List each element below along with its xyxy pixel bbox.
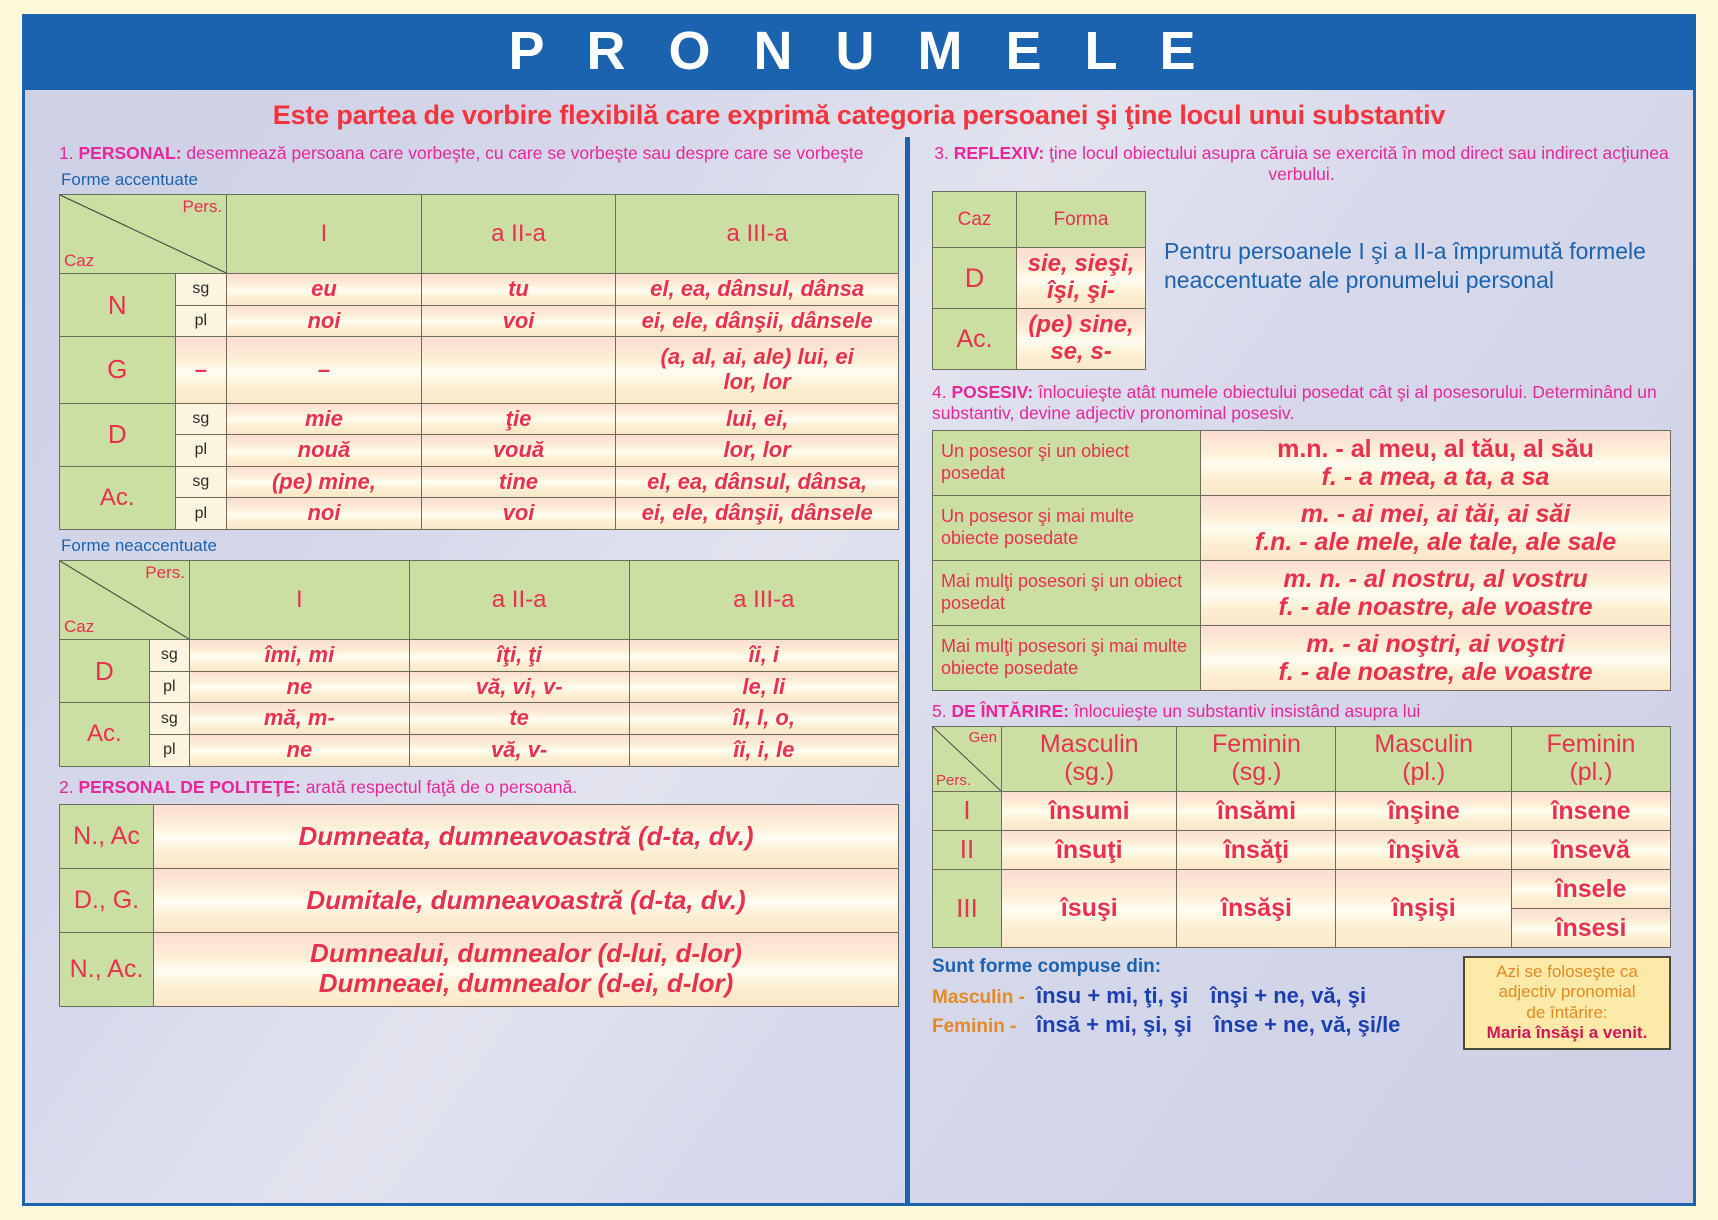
cell-d-pl-p2: vouă bbox=[421, 435, 616, 467]
refl-header-caz: Caz bbox=[933, 192, 1017, 248]
compuse-row-feminin: Feminin - însă + mi, şi, şi înse + ne, v… bbox=[932, 1012, 1453, 1038]
cell-g-p1: – bbox=[227, 337, 422, 403]
poster: P R O N U M E L E Este partea de vorbire… bbox=[22, 14, 1696, 1206]
cell-nd-sg-p3: îi, i bbox=[629, 640, 898, 672]
cell-n-pl-p1: noi bbox=[227, 305, 422, 337]
table-row: Ac. sg (pe) mine, tine el, ea, dânsul, d… bbox=[60, 466, 899, 498]
cell-nac-pl-p1: ne bbox=[189, 734, 409, 766]
posesiv-line-0-0: m.n. - al meu, al tău, al său bbox=[1207, 435, 1664, 463]
number-sg: sg bbox=[149, 703, 189, 735]
corner-top-label: Pers. bbox=[182, 197, 222, 217]
table-row: I însumi însămi înşine însene bbox=[933, 791, 1671, 830]
table-header-row: Pers. Caz I a II-a a III-a bbox=[60, 561, 899, 640]
note-line-2: adjectiv pronomial bbox=[1469, 982, 1665, 1002]
number-sg: sg bbox=[149, 640, 189, 672]
int-cell-2-3: însevă bbox=[1511, 830, 1670, 869]
table-row: II însuţi însăţi înşivă însevă bbox=[933, 830, 1671, 869]
table-forme-accentuate: Pers. Caz I a II-a a III-a N sg eu tu el… bbox=[59, 194, 899, 530]
col-header-p2: a II-a bbox=[409, 561, 629, 640]
case-label-g: G bbox=[60, 337, 176, 403]
section1-desc: desemnează persoana care vorbeşte, cu ca… bbox=[186, 143, 863, 163]
int-cell-1-2: înşine bbox=[1336, 791, 1511, 830]
number-sg: sg bbox=[175, 274, 227, 306]
number-pl: pl bbox=[175, 305, 227, 337]
col-header-p2: a II-a bbox=[421, 195, 616, 274]
cell-n-pl-p2: voi bbox=[421, 305, 616, 337]
reflexiv-note: Pentru persoanele I şi a II-a împrumută … bbox=[1164, 191, 1671, 294]
section3-desc: ţine locul obiectului asupra căruia se e… bbox=[1049, 143, 1669, 184]
corner-bottom-label: Caz bbox=[64, 251, 94, 271]
corner-bottom-label: Pers. bbox=[936, 772, 971, 789]
cell-nd-pl-p3: le, li bbox=[629, 671, 898, 703]
case-label-ac: Ac. bbox=[60, 703, 150, 766]
cell-nd-pl-p2: vă, vi, v- bbox=[409, 671, 629, 703]
number-sg: sg bbox=[175, 403, 227, 435]
section2-number: 2. bbox=[59, 777, 74, 797]
cell-d-pl-p3: lor, lor bbox=[616, 435, 899, 467]
int-cell-3-3a: însele bbox=[1511, 869, 1670, 908]
table-header-row: Gen Pers. Masculin (sg.) Feminin (sg.) M… bbox=[933, 726, 1671, 791]
section1-heading: 1. PERSONAL: desemnează persoana care vo… bbox=[59, 143, 899, 164]
table-row: Un posesor şi un obiect posedat m.n. - a… bbox=[933, 430, 1671, 495]
refl-form-0: sie, sieşi, îşi, şi- bbox=[1017, 248, 1146, 309]
table-forme-neaccentuate: Pers. Caz I a II-a a III-a D sg îmi, mi … bbox=[59, 560, 899, 767]
note-box: Azi se foloseşte ca adjectiv pronomial d… bbox=[1463, 956, 1671, 1051]
politete-value-0: Dumneata, dumneavoastră (d-ta, dv.) bbox=[154, 804, 899, 868]
table-de-intarire: Gen Pers. Masculin (sg.) Feminin (sg.) M… bbox=[932, 726, 1671, 948]
table-header-row: Pers. Caz I a II-a a III-a bbox=[60, 195, 899, 274]
int-cell-3-2: înşişi bbox=[1336, 869, 1511, 947]
cell-g-p3: (a, al, ai, ale) lui, ei lor, lor bbox=[616, 337, 899, 403]
section5-heading: 5. DE ÎNTĂRIRE: înlocuieşte un substanti… bbox=[932, 701, 1671, 722]
posesiv-label-0: Un posesor şi un obiect posedat bbox=[933, 430, 1201, 495]
case-label-d: D bbox=[60, 640, 150, 703]
compuse-title: Sunt forme compuse din: bbox=[932, 956, 1453, 978]
cell-nd-pl-p1: ne bbox=[189, 671, 409, 703]
corner-bottom-label: Caz bbox=[64, 617, 94, 637]
int-col-header-0-l1: Masculin bbox=[1004, 731, 1174, 759]
posesiv-value-1: m. - ai mei, ai tăi, ai săi f.n. - ale m… bbox=[1201, 495, 1671, 560]
cell-nac-pl-p3: îi, i, le bbox=[629, 734, 898, 766]
col-header-p3: a III-a bbox=[629, 561, 898, 640]
cell-d-pl-p1: nouă bbox=[227, 435, 422, 467]
politete-label-1: D., G. bbox=[60, 868, 154, 932]
int-col-header-2-l1: Masculin bbox=[1338, 731, 1508, 759]
corner-cell: Pers. Caz bbox=[60, 561, 190, 640]
section4-desc: înlocuieşte atât numele obiectului posed… bbox=[932, 382, 1657, 423]
section1-number: 1. bbox=[59, 143, 74, 163]
section5-name: DE ÎNTĂRIRE: bbox=[951, 701, 1069, 721]
table-header-row: Caz Forma bbox=[933, 192, 1146, 248]
cell-n-sg-p3: el, ea, dânsul, dânsa bbox=[616, 274, 899, 306]
cell-d-sg-p3: lui, ei, bbox=[616, 403, 899, 435]
posesiv-value-0: m.n. - al meu, al tău, al său f. - a mea… bbox=[1201, 430, 1671, 495]
int-col-header-3-l2: (pl.) bbox=[1514, 759, 1668, 787]
int-col-header-1-l2: (sg.) bbox=[1179, 759, 1333, 787]
posesiv-line-3-1: f. - ale noastre, ale voastre bbox=[1207, 658, 1664, 686]
table-row: D sg mie ţie lui, ei, bbox=[60, 403, 899, 435]
forme-accentuate-label: Forme accentuate bbox=[61, 170, 899, 190]
table-row: pl nouă vouă lor, lor bbox=[60, 435, 899, 467]
section2-desc: arată respectul faţă de o persoană. bbox=[306, 777, 577, 797]
table-row: Ac. (pe) sine, se, s- bbox=[933, 309, 1146, 370]
int-cell-2-1: însăţi bbox=[1177, 830, 1336, 869]
note-line-3: de întărire: bbox=[1469, 1003, 1665, 1023]
cell-nac-sg-p2: te bbox=[409, 703, 629, 735]
cell-nac-sg-p1: mă, m- bbox=[189, 703, 409, 735]
table-row: Mai mulţi posesori şi un obiect posedat … bbox=[933, 560, 1671, 625]
cell-g-dash-1: – bbox=[175, 337, 227, 403]
cell-ac-sg-p3: el, ea, dânsul, dânsa, bbox=[616, 466, 899, 498]
posesiv-line-1-1: f.n. - ale mele, ale tale, ale sale bbox=[1207, 528, 1664, 556]
cell-n-sg-p2: tu bbox=[421, 274, 616, 306]
table-politete: N., Ac Dumneata, dumneavoastră (d-ta, dv… bbox=[59, 804, 899, 1007]
page-title: P R O N U M E L E bbox=[25, 23, 1693, 80]
section4-name: POSESIV: bbox=[951, 382, 1033, 402]
refl-form-1: (pe) sine, se, s- bbox=[1017, 309, 1146, 370]
posesiv-value-3: m. - ai noştri, ai voştri f. - ale noast… bbox=[1201, 625, 1671, 690]
case-label-ac: Ac. bbox=[60, 466, 176, 529]
corner-top-label: Pers. bbox=[145, 563, 185, 583]
compuse-f1-feminin: însă + mi, şi, şi bbox=[1036, 1012, 1192, 1038]
posesiv-label-1: Un posesor şi mai multe obiecte posedate bbox=[933, 495, 1201, 560]
number-pl: pl bbox=[149, 671, 189, 703]
compuse-row-masculin: Masculin - însu + mi, ţi, şi înşi + ne, … bbox=[932, 983, 1453, 1009]
compuse-f1-masculin: însu + mi, ţi, şi bbox=[1036, 983, 1188, 1009]
forme-neaccentuate-label: Forme neaccentuate bbox=[61, 536, 899, 556]
table-row: Mai mulţi posesori şi mai multe obiecte … bbox=[933, 625, 1671, 690]
section3-heading: 3. REFLEXIV: ţine locul obiectului asupr… bbox=[932, 143, 1671, 186]
section5-number: 5. bbox=[932, 701, 947, 721]
number-pl: pl bbox=[175, 435, 227, 467]
header-bar: P R O N U M E L E bbox=[25, 17, 1693, 90]
cell-ac-pl-p3: ei, ele, dânşii, dânsele bbox=[616, 498, 899, 530]
int-pers-1: I bbox=[933, 791, 1002, 830]
table-row: pl noi voi ei, ele, dânşii, dânsele bbox=[60, 305, 899, 337]
posesiv-line-0-1: f. - a mea, a ta, a sa bbox=[1207, 463, 1664, 491]
table-row: pl ne vă, vi, v- le, li bbox=[60, 671, 899, 703]
table-row: Un posesor şi mai multe obiecte posedate… bbox=[933, 495, 1671, 560]
int-cell-1-3: însene bbox=[1511, 791, 1670, 830]
table-row: III îsuşi însăşi înşişi însele bbox=[933, 869, 1671, 908]
content-columns: 1. PERSONAL: desemnează persoana care vo… bbox=[25, 137, 1693, 1203]
posesiv-value-2: m. n. - al nostru, al vostru f. - ale no… bbox=[1201, 560, 1671, 625]
cell-d-sg-p2: ţie bbox=[421, 403, 616, 435]
cell-nd-sg-p1: îmi, mi bbox=[189, 640, 409, 672]
section4-heading: 4. POSESIV: înlocuieşte atât numele obie… bbox=[932, 382, 1671, 425]
compuse-gen-feminin: Feminin - bbox=[932, 1016, 1028, 1038]
posesiv-label-3: Mai mulţi posesori şi mai multe obiecte … bbox=[933, 625, 1201, 690]
table-row: N., Ac Dumneata, dumneavoastră (d-ta, dv… bbox=[60, 804, 899, 868]
col-header-p3: a III-a bbox=[616, 195, 899, 274]
int-cell-2-2: înşivă bbox=[1336, 830, 1511, 869]
cell-nac-sg-p3: îl, l, o, bbox=[629, 703, 898, 735]
case-label-n: N bbox=[60, 274, 176, 337]
int-col-header-2-l2: (pl.) bbox=[1338, 759, 1508, 787]
table-row: pl ne vă, v- îi, i, le bbox=[60, 734, 899, 766]
table-row: D., G. Dumitale, dumneavoastră (d-ta, dv… bbox=[60, 868, 899, 932]
cell-ac-pl-p2: voi bbox=[421, 498, 616, 530]
cell-ac-sg-p1: (pe) mine, bbox=[227, 466, 422, 498]
number-sg: sg bbox=[175, 466, 227, 498]
posesiv-line-3-0: m. - ai noştri, ai voştri bbox=[1207, 630, 1664, 658]
note-line-1: Azi se foloseşte ca bbox=[1469, 962, 1665, 982]
corner-cell: Gen Pers. bbox=[933, 726, 1002, 791]
cell-ac-sg-p2: tine bbox=[421, 466, 616, 498]
posesiv-line-2-1: f. - ale noastre, ale voastre bbox=[1207, 593, 1664, 621]
politete-value-2: Dumnealui, dumnealor (d-lui, d-lor) Dumn… bbox=[154, 932, 899, 1006]
politete-label-2: N., Ac. bbox=[60, 932, 154, 1006]
posesiv-line-1-0: m. - ai mei, ai tăi, ai săi bbox=[1207, 500, 1664, 528]
case-label-d: D bbox=[60, 403, 176, 466]
table-row: Ac. sg mă, m- te îl, l, o, bbox=[60, 703, 899, 735]
col-header-p1: I bbox=[227, 195, 422, 274]
politete-value-1: Dumitale, dumneavoastră (d-ta, dv.) bbox=[154, 868, 899, 932]
posesiv-label-2: Mai mulţi posesori şi un obiect posedat bbox=[933, 560, 1201, 625]
table-row: G – – (a, al, ai, ale) lui, ei lor, lor bbox=[60, 337, 899, 403]
note-example: Maria însăşi a venit. bbox=[1469, 1023, 1665, 1043]
refl-case-1: Ac. bbox=[933, 309, 1017, 370]
compuse-left: Sunt forme compuse din: Masculin - însu … bbox=[932, 956, 1453, 1041]
compuse-block: Sunt forme compuse din: Masculin - însu … bbox=[932, 956, 1671, 1051]
posesiv-line-2-0: m. n. - al nostru, al vostru bbox=[1207, 565, 1664, 593]
int-col-header-0-l2: (sg.) bbox=[1004, 759, 1174, 787]
int-cell-3-1: însăşi bbox=[1177, 869, 1336, 947]
cell-ac-pl-p1: noi bbox=[227, 498, 422, 530]
number-pl: pl bbox=[149, 734, 189, 766]
int-col-header-1: Feminin (sg.) bbox=[1177, 726, 1336, 791]
compuse-gen-masculin: Masculin - bbox=[932, 987, 1028, 1009]
int-cell-3-0: îsuşi bbox=[1002, 869, 1177, 947]
table-row: N sg eu tu el, ea, dânsul, dânsa bbox=[60, 274, 899, 306]
col-header-p1: I bbox=[189, 561, 409, 640]
section4-number: 4. bbox=[932, 382, 947, 402]
int-cell-3-3b: însesi bbox=[1511, 908, 1670, 947]
int-col-header-3: Feminin (pl.) bbox=[1511, 726, 1670, 791]
int-col-header-1-l1: Feminin bbox=[1179, 731, 1333, 759]
cell-nd-sg-p2: îţi, ţi bbox=[409, 640, 629, 672]
cell-n-sg-p1: eu bbox=[227, 274, 422, 306]
int-pers-2: II bbox=[933, 830, 1002, 869]
cell-g-p2 bbox=[421, 337, 616, 403]
table-posesiv: Un posesor şi un obiect posedat m.n. - a… bbox=[932, 430, 1671, 691]
int-cell-2-0: însuţi bbox=[1002, 830, 1177, 869]
int-cell-1-0: însumi bbox=[1002, 791, 1177, 830]
section2-heading: 2. PERSONAL DE POLITEŢE: arată respectul… bbox=[59, 777, 899, 798]
reflexiv-block: Caz Forma D sie, sieşi, îşi, şi- Ac. (pe… bbox=[932, 191, 1671, 370]
section2-name: PERSONAL DE POLITEŢE: bbox=[78, 777, 300, 797]
int-col-header-2: Masculin (pl.) bbox=[1336, 726, 1511, 791]
number-pl: pl bbox=[175, 498, 227, 530]
cell-nac-pl-p2: vă, v- bbox=[409, 734, 629, 766]
politete-label-0: N., Ac bbox=[60, 804, 154, 868]
refl-case-0: D bbox=[933, 248, 1017, 309]
int-col-header-0: Masculin (sg.) bbox=[1002, 726, 1177, 791]
table-row: pl noi voi ei, ele, dânşii, dânsele bbox=[60, 498, 899, 530]
int-cell-1-1: însămi bbox=[1177, 791, 1336, 830]
section3-number: 3. bbox=[934, 143, 949, 163]
subtitle: Este partea de vorbire flexibilă care ex… bbox=[25, 90, 1693, 137]
refl-header-forma: Forma bbox=[1017, 192, 1146, 248]
table-reflexiv: Caz Forma D sie, sieşi, îşi, şi- Ac. (pe… bbox=[932, 191, 1146, 370]
compuse-f2-feminin: înse + ne, vă, şi/le bbox=[1214, 1012, 1401, 1038]
compuse-f2-masculin: înşi + ne, vă, şi bbox=[1210, 983, 1366, 1009]
corner-cell: Pers. Caz bbox=[60, 195, 227, 274]
section1-name: PERSONAL: bbox=[78, 143, 181, 163]
table-row: D sie, sieşi, îşi, şi- bbox=[933, 248, 1146, 309]
cell-d-sg-p1: mie bbox=[227, 403, 422, 435]
table-row: N., Ac. Dumnealui, dumnealor (d-lui, d-l… bbox=[60, 932, 899, 1006]
section5-desc: înlocuieşte un substantiv insistând asup… bbox=[1074, 701, 1420, 721]
left-column: 1. PERSONAL: desemnează persoana care vo… bbox=[25, 137, 905, 1203]
section3-name: REFLEXIV: bbox=[954, 143, 1044, 163]
cell-n-pl-p3: ei, ele, dânşii, dânsele bbox=[616, 305, 899, 337]
table-row: D sg îmi, mi îţi, ţi îi, i bbox=[60, 640, 899, 672]
right-column: 3. REFLEXIV: ţine locul obiectului asupr… bbox=[905, 137, 1693, 1203]
int-pers-3: III bbox=[933, 869, 1002, 947]
corner-top-label: Gen bbox=[969, 729, 997, 746]
int-col-header-3-l1: Feminin bbox=[1514, 731, 1668, 759]
